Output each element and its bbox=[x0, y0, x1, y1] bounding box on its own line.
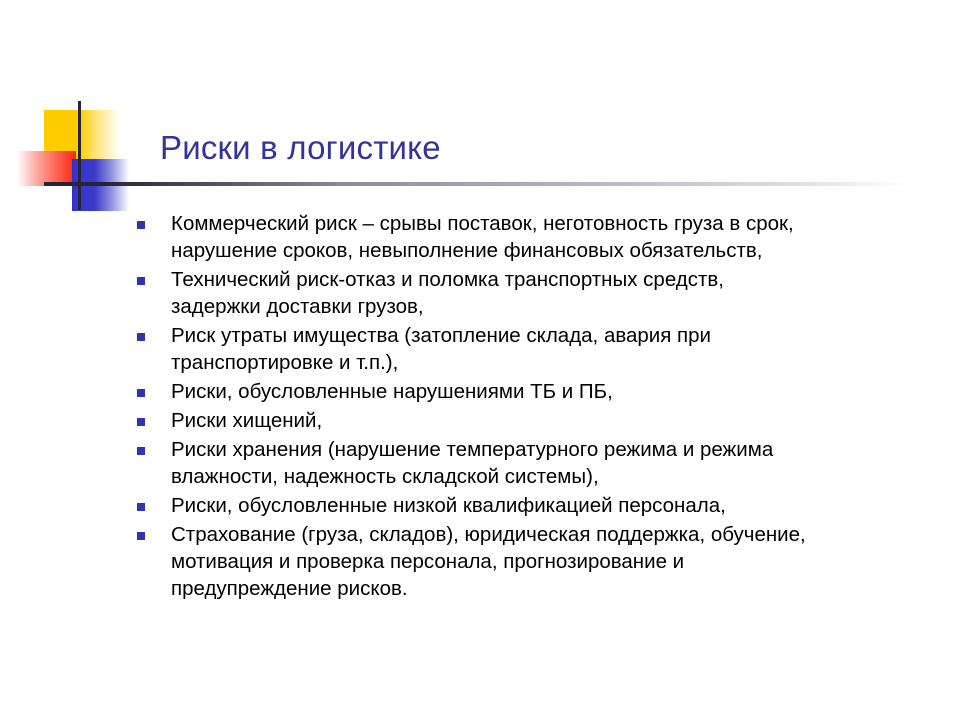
bullet-square-icon bbox=[137, 532, 145, 540]
bullet-square-icon bbox=[137, 389, 145, 397]
list-item: Риски, обусловленные нарушениями ТБ и ПБ… bbox=[133, 378, 923, 405]
list-item-text: Риски, обусловленные низкой квалификацие… bbox=[171, 492, 923, 519]
bullet-square-icon bbox=[137, 503, 145, 511]
bullet-square-icon bbox=[137, 418, 145, 426]
list-item: Риски хищений, bbox=[133, 407, 923, 434]
slide-title: Риски в логистике bbox=[160, 128, 441, 168]
list-item: Риски хранения (нарушение температурного… bbox=[133, 436, 923, 490]
slide-decoration-graphic bbox=[0, 0, 420, 230]
bullet-square-icon bbox=[137, 333, 145, 341]
decoration-yellow-square bbox=[44, 110, 120, 170]
bullet-square-icon bbox=[137, 447, 145, 455]
list-item-text: Технический риск-отказ и поломка транспо… bbox=[171, 266, 923, 320]
list-item: Риск утраты имущества (затопление склада… bbox=[133, 322, 923, 376]
decoration-red-square bbox=[17, 151, 76, 186]
decoration-vertical-rule bbox=[78, 101, 81, 210]
list-item-text: Риск утраты имущества (затопление склада… bbox=[171, 322, 923, 376]
list-item-text: Риски хранения (нарушение температурного… bbox=[171, 436, 923, 490]
list-item-text: Риски, обусловленные нарушениями ТБ и ПБ… bbox=[171, 378, 923, 405]
list-item: Страхование (груза, складов), юридическа… bbox=[133, 521, 923, 602]
list-item: Технический риск-отказ и поломка транспо… bbox=[133, 266, 923, 320]
list-item-text: Страхование (груза, складов), юридическа… bbox=[171, 521, 923, 602]
slide-canvas: Риски в логистике Коммерческий риск – ср… bbox=[0, 0, 960, 720]
list-item-text: Коммерческий риск – срывы поставок, него… bbox=[171, 210, 923, 264]
list-item-text: Риски хищений, bbox=[171, 407, 923, 434]
slide-bullet-list: Коммерческий риск – срывы поставок, него… bbox=[133, 210, 923, 604]
list-item: Коммерческий риск – срывы поставок, него… bbox=[133, 210, 923, 264]
list-item: Риски, обусловленные низкой квалификацие… bbox=[133, 492, 923, 519]
bullet-square-icon bbox=[137, 277, 145, 285]
bullet-square-icon bbox=[137, 221, 145, 229]
title-underline-rule bbox=[44, 182, 912, 186]
